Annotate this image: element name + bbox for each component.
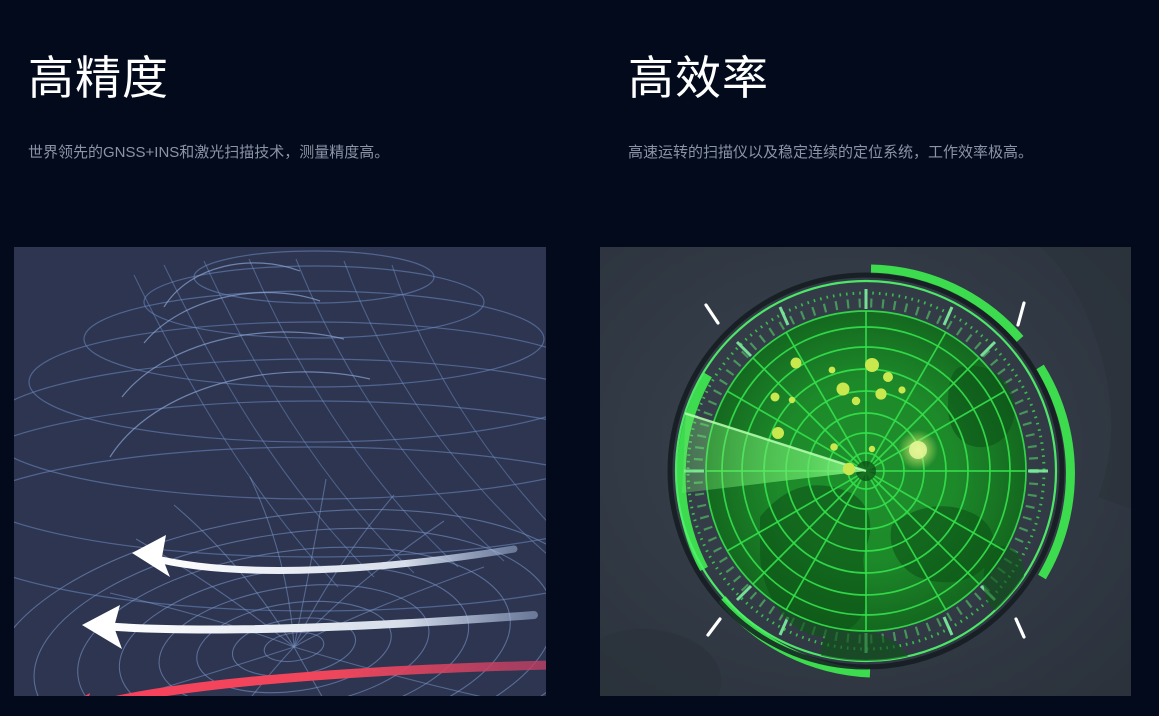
page-title-efficiency: 高效率 xyxy=(628,55,769,101)
page-title-precision: 高精度 xyxy=(28,55,169,101)
efficiency-description: 高速运转的扫描仪以及稳定连续的定位系统，工作效率极高。 xyxy=(628,142,1033,165)
radar-scope-image xyxy=(600,247,1131,696)
radar-bright-return xyxy=(909,441,927,459)
globe-wind-grid-image xyxy=(14,247,546,696)
feature-card-precision: 高精度 世界领先的GNSS+INS和激光扫描技术，测量精度高。 xyxy=(0,0,600,716)
feature-card-efficiency: 高效率 高速运转的扫描仪以及稳定连续的定位系统，工作效率极高。 xyxy=(600,0,1159,716)
feature-grid: 高精度 世界领先的GNSS+INS和激光扫描技术，测量精度高。 xyxy=(0,0,1159,716)
precision-description: 世界领先的GNSS+INS和激光扫描技术，测量精度高。 xyxy=(28,142,389,165)
